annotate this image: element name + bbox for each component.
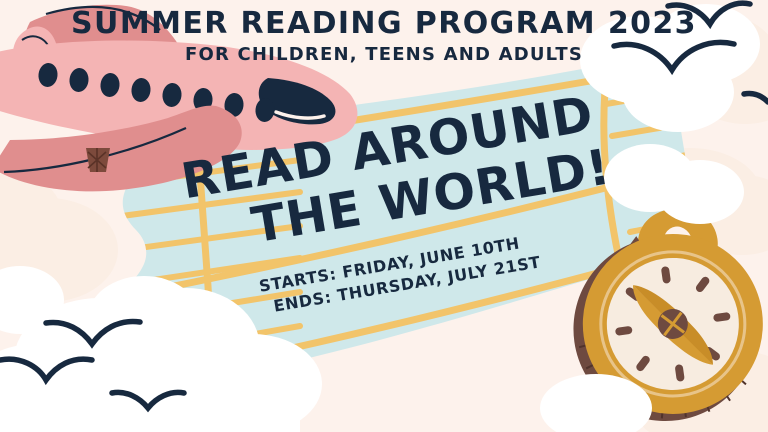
page-subtitle: FOR CHILDREN, TEENS AND ADULTS — [0, 44, 768, 65]
poster-canvas: SUMMER READING PROGRAM 2023 FOR CHILDREN… — [0, 0, 768, 432]
page-title: SUMMER READING PROGRAM 2023 — [0, 6, 768, 41]
